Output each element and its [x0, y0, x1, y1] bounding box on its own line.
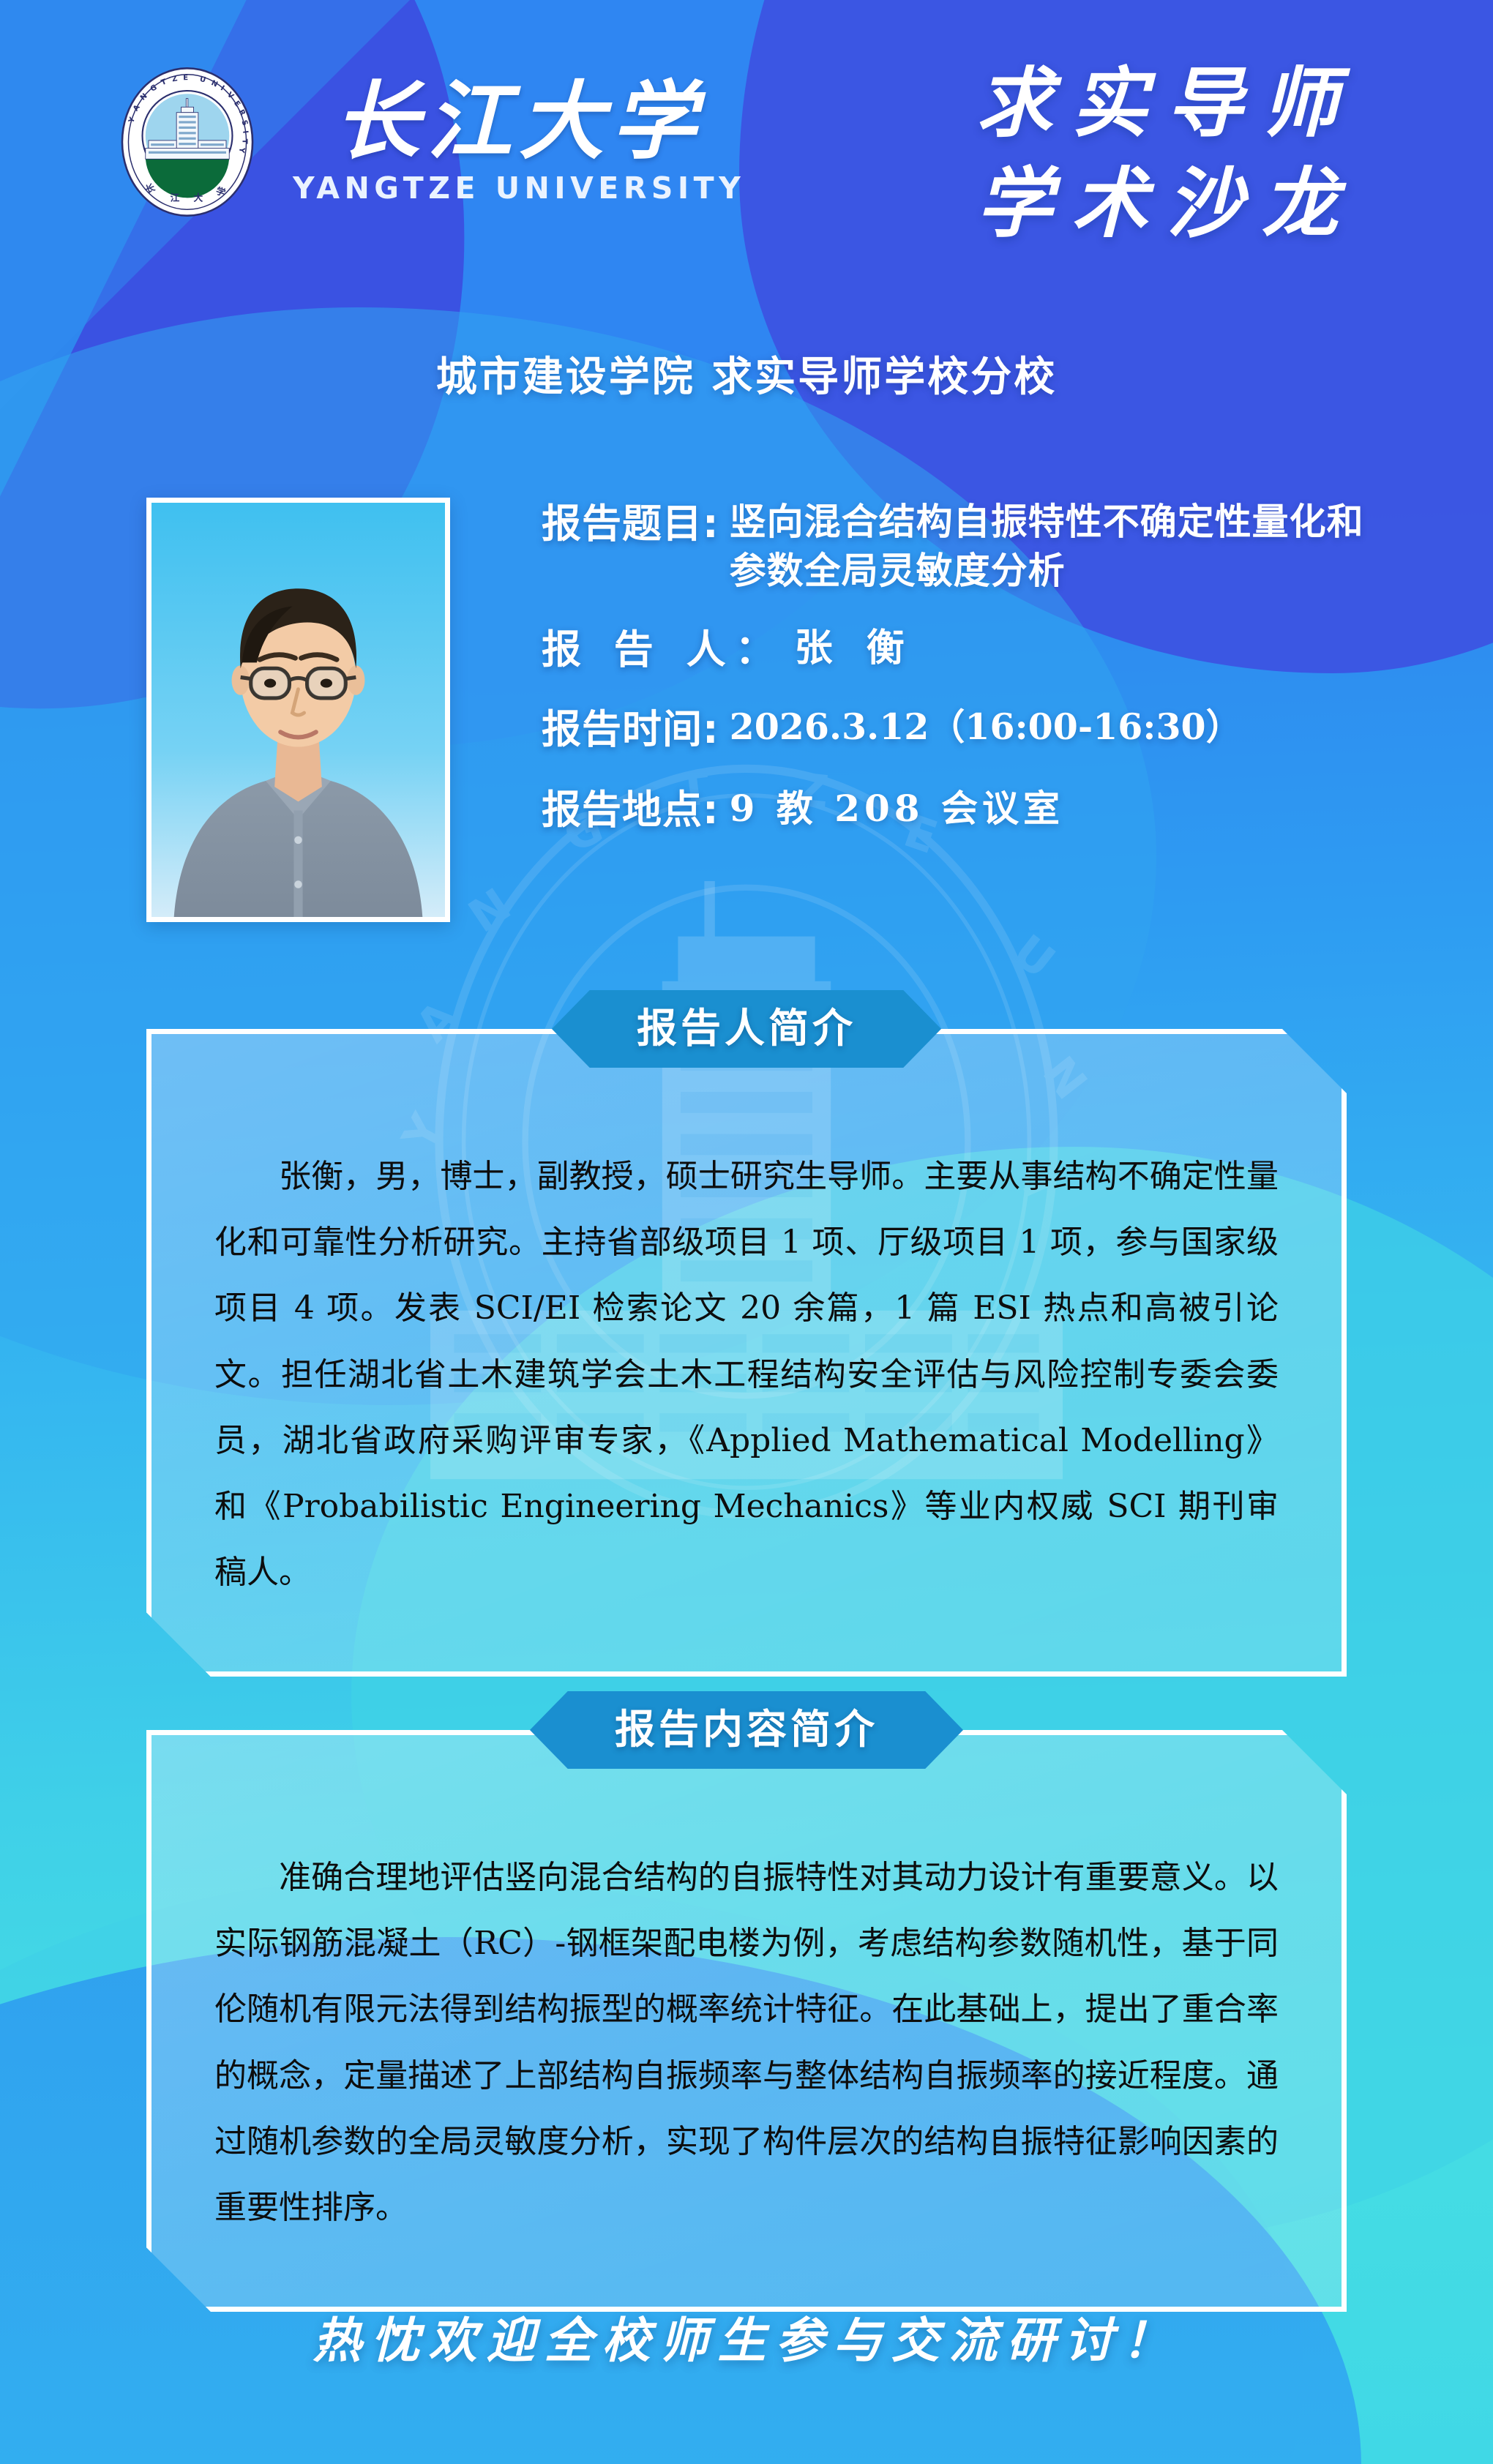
- university-logo-block: Y A N G T Z E U N I V E R: [110, 64, 745, 220]
- talk-place-label: 报告地点:: [542, 784, 719, 836]
- university-name-cn: 长江大学: [334, 78, 703, 165]
- talk-title-label: 报告题目:: [542, 498, 719, 550]
- talk-place-value: 9 教 208 会议室: [730, 784, 1064, 833]
- info-row-title: 报告题目: 竖向混合结构自振特性不确定性量化和参数全局灵敏度分析: [542, 498, 1449, 596]
- talk-time-label: 报告时间:: [542, 703, 719, 755]
- speaker-bio-text: 张衡，男，博士，副教授，硕士研究生导师。主要从事结构不确定性量化和可靠性分析研究…: [214, 1144, 1279, 1606]
- university-seal-icon: Y A N G T Z E U N I V E R: [110, 64, 265, 220]
- talk-title-value: 竖向混合结构自振特性不确定性量化和参数全局灵敏度分析: [730, 498, 1366, 596]
- talk-time-value: 2026.3.12（16:00-16:30）: [730, 703, 1242, 752]
- svg-text:大: 大: [193, 192, 203, 203]
- welcome-footer: 热忱欢迎全校师生参与交流研讨！: [0, 2302, 1493, 2372]
- salon-title-line-2: 学术沙龙: [976, 153, 1357, 253]
- speaker-bio-badge: 报告人简介: [552, 990, 941, 1068]
- poster-root: Y A N G T Z E U N I: [0, 0, 1493, 2464]
- speaker-label: 报 告 人：: [542, 624, 785, 675]
- speaker-portrait: [146, 498, 450, 922]
- info-row-speaker: 报 告 人： 张 衡: [542, 624, 1449, 675]
- speaker-value: 张 衡: [795, 624, 915, 675]
- info-row-time: 报告时间: 2026.3.12（16:00-16:30）: [542, 703, 1449, 755]
- abstract-badge-row: 报告内容简介: [0, 1690, 1493, 1770]
- department-subtitle: 城市建设学院 求实导师学校分校: [0, 344, 1493, 403]
- speaker-bio-badge-row: 报告人简介: [0, 989, 1493, 1068]
- speaker-bio-card: 张衡，男，博士，副教授，硕士研究生导师。主要从事结构不确定性量化和可靠性分析研究…: [146, 1029, 1347, 1677]
- abstract-section: 报告内容简介 准确合理地评估竖向混合结构的自振特性对其动力设计有重要意义。以实际…: [0, 1690, 1493, 2312]
- info-row-place: 报告地点: 9 教 208 会议室: [542, 784, 1449, 836]
- svg-text:江: 江: [171, 192, 180, 203]
- salon-title-line-1: 求实导师: [976, 53, 1357, 153]
- speaker-bio-section: 报告人简介 张衡，男，博士，副教授，硕士研究生导师。主要从事结构不确定性量化和可…: [0, 989, 1493, 1677]
- university-name-en: YANGTZE UNIVERSITY: [293, 171, 745, 206]
- svg-text:E: E: [183, 74, 188, 82]
- abstract-text: 准确合理地评估竖向混合结构的自振特性对其动力设计有重要意义。以实际钢筋混凝土（R…: [214, 1845, 1279, 2241]
- abstract-card: 准确合理地评估竖向混合结构的自振特性对其动力设计有重要意义。以实际钢筋混凝土（R…: [146, 1730, 1347, 2312]
- svg-text:T: T: [240, 139, 248, 144]
- talk-info-block: 报告题目: 竖向混合结构自振特性不确定性量化和参数全局灵敏度分析 报 告 人： …: [542, 498, 1449, 858]
- poster-header: Y A N G T Z E U N I V E R: [0, 59, 1493, 285]
- abstract-badge: 报告内容简介: [530, 1691, 963, 1770]
- university-name-block: 长江大学 YANGTZE UNIVERSITY: [293, 78, 745, 206]
- salon-title-block: 求实导师 学术沙龙: [976, 53, 1357, 254]
